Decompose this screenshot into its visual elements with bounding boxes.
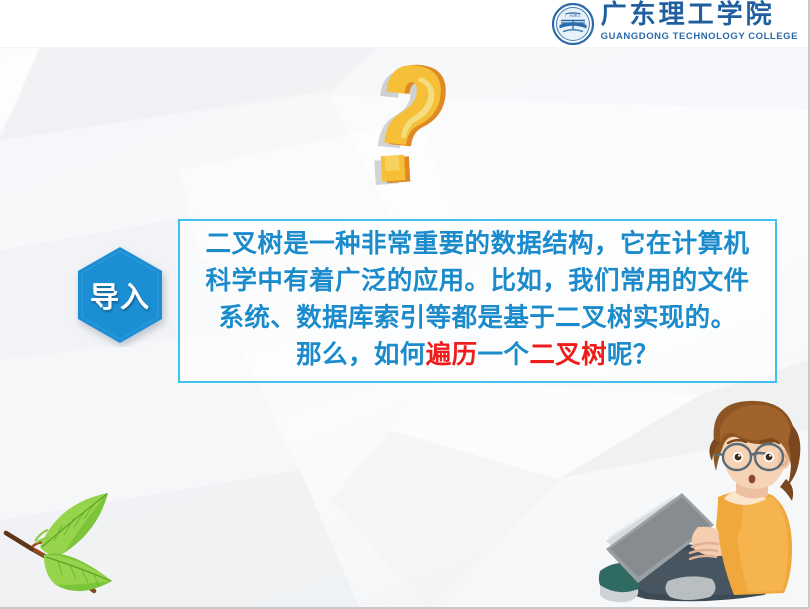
college-emblem-icon: 广东理工 [552,3,594,45]
text-line-question: 那么，如何遍历一个二叉树呢？ [296,337,659,374]
college-name-cn: 广东理工学院 [601,2,775,28]
svg-text:广东理工: 广东理工 [565,12,581,18]
green-leaves-illustration [2,469,178,605]
question-mark-3d-icon [352,52,464,202]
text-line-1: 二叉树是一种非常重要的数据结构，它在计算机 [206,226,750,263]
text-line-2: 科学中有着广泛的应用。比如，我们常用的文件 [206,263,750,300]
presentation-slide: 广东理工 广东理工学院 GUANGDONG TECHNOLOGY COLLEGE [0,0,810,609]
question-part-3: 呢？ [607,340,659,370]
section-badge[interactable]: 导入 [70,243,170,347]
question-part-2: 一个 [478,340,530,370]
question-highlight-binary-tree: 二叉树 [529,340,607,370]
question-highlight-traverse: 遍历 [426,340,478,370]
boy-reading-illustration [586,399,806,605]
college-name-en: GUANGDONG TECHNOLOGY COLLEGE [601,32,798,42]
text-line-3: 系统、数据库索引等都是基于二叉树实现的。 [218,300,736,337]
question-part-1: 那么，如何 [296,340,426,370]
college-logo: 广东理工 广东理工学院 GUANGDONG TECHNOLOGY COLLEGE [552,2,798,45]
main-text-box: 二叉树是一种非常重要的数据结构，它在计算机 科学中有着广泛的应用。比如，我们常用… [178,219,777,383]
college-name-block: 广东理工学院 GUANGDONG TECHNOLOGY COLLEGE [601,2,798,42]
